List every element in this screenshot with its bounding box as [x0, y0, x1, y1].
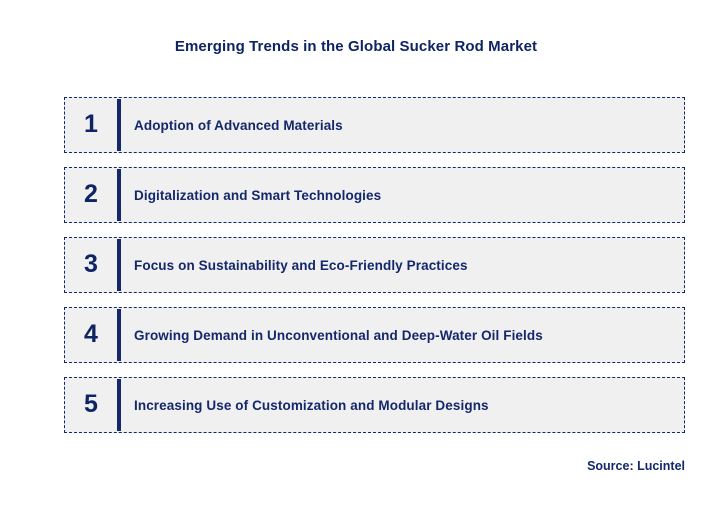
list-item[interactable]: 5 Increasing Use of Customization and Mo… — [64, 377, 685, 433]
trend-number: 2 — [65, 182, 117, 209]
list-item[interactable]: 1 Adoption of Advanced Materials — [64, 97, 685, 153]
trend-label: Adoption of Advanced Materials — [121, 118, 684, 133]
trend-number: 3 — [65, 252, 117, 279]
source-attribution: Source: Lucintel — [587, 459, 685, 473]
trend-number: 1 — [65, 112, 117, 139]
list-item[interactable]: 2 Digitalization and Smart Technologies — [64, 167, 685, 223]
page-title: Emerging Trends in the Global Sucker Rod… — [0, 38, 712, 55]
trend-label: Increasing Use of Customization and Modu… — [121, 398, 684, 413]
trend-label: Growing Demand in Unconventional and Dee… — [121, 328, 684, 343]
list-item[interactable]: 3 Focus on Sustainability and Eco-Friend… — [64, 237, 685, 293]
infographic-canvas: Emerging Trends in the Global Sucker Rod… — [0, 0, 712, 521]
trend-label: Digitalization and Smart Technologies — [121, 188, 684, 203]
trend-number: 5 — [65, 392, 117, 419]
trend-label: Focus on Sustainability and Eco-Friendly… — [121, 258, 684, 273]
list-item[interactable]: 4 Growing Demand in Unconventional and D… — [64, 307, 685, 363]
trend-number: 4 — [65, 322, 117, 349]
trend-list: 1 Adoption of Advanced Materials 2 Digit… — [64, 97, 685, 433]
